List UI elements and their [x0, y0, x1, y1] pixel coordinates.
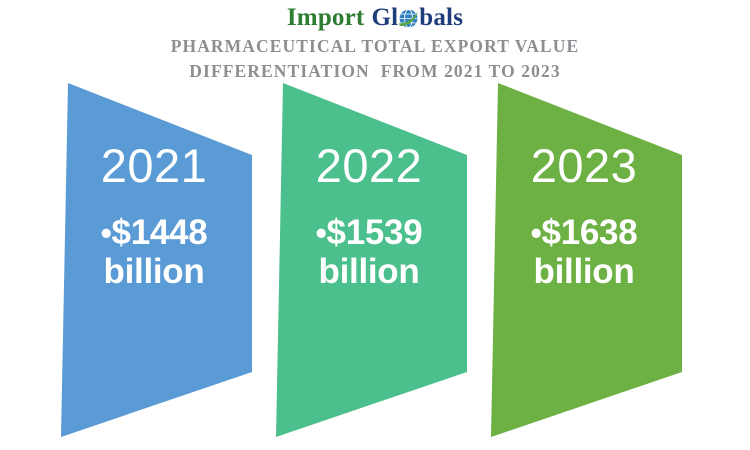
panel-2022[interactable]: 2022 •$1539 billion — [271, 78, 511, 450]
brand-logo: ImportGl bals — [0, 0, 750, 34]
infographic-canvas: ImportGl bals PHARMACEUTICAL TOTAL EXPOR… — [0, 0, 750, 450]
title-line-1: PHARMACEUTICAL TOTAL EXPORT VALUE — [0, 34, 750, 59]
panel-2021-shape — [61, 83, 252, 437]
panel-group: 2021 •$1448 billion 2022 •$1539 billion — [0, 78, 750, 450]
panel-2023-shape — [491, 83, 682, 437]
logo-word-bals: bals — [419, 5, 463, 30]
logo-word-import: Import — [287, 5, 365, 30]
panel-2023[interactable]: 2023 •$1638 billion — [486, 78, 726, 450]
globe-icon — [398, 8, 419, 29]
logo-word-gl: Gl — [371, 5, 398, 30]
panel-2022-shape — [276, 83, 467, 437]
panel-2021[interactable]: 2021 •$1448 billion — [56, 78, 296, 450]
